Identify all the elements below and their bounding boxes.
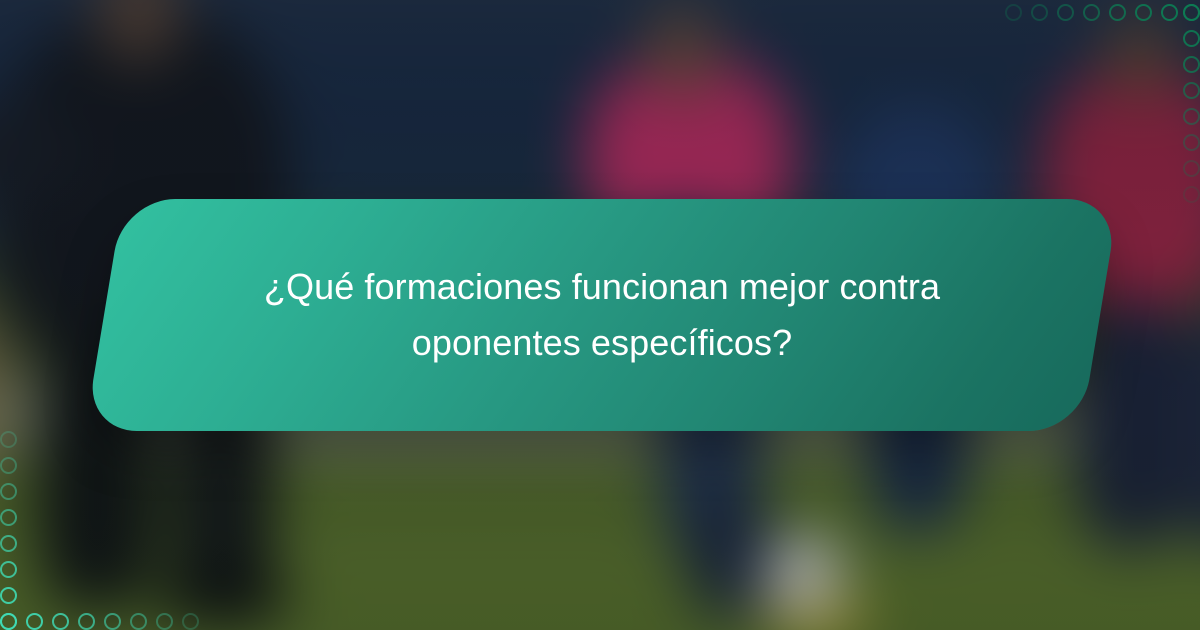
decorative-ring <box>1183 160 1200 177</box>
decorative-ring <box>1183 134 1200 151</box>
decorative-ring <box>1109 4 1126 21</box>
decorative-ring <box>1183 108 1200 125</box>
decorative-ring <box>1005 4 1022 21</box>
question-card: ¿Qué formaciones funcionan mejor contra … <box>104 199 1100 431</box>
decorative-ring <box>0 483 17 500</box>
decorative-ring <box>156 613 173 630</box>
decorative-ring <box>182 613 199 630</box>
decorative-ring <box>1031 4 1048 21</box>
decorative-ring <box>0 431 17 448</box>
question-line-1: ¿Qué formaciones funcionan mejor contra <box>264 259 940 315</box>
decorative-ring <box>0 613 17 630</box>
decorative-ring <box>26 613 43 630</box>
decorative-ring <box>1183 4 1200 21</box>
decorative-ring <box>1183 56 1200 73</box>
question-line-2: oponentes específicos? <box>412 315 792 371</box>
question-card-text: ¿Qué formaciones funcionan mejor contra … <box>104 199 1100 431</box>
decorative-ring <box>0 561 17 578</box>
decorative-ring <box>1183 186 1200 203</box>
decorative-ring <box>0 457 17 474</box>
decorative-ring <box>104 613 121 630</box>
social-card-canvas: ¿Qué formaciones funcionan mejor contra … <box>0 0 1200 630</box>
decorative-ring <box>1183 30 1200 47</box>
decorative-ring <box>1183 82 1200 99</box>
decorative-ring <box>0 535 17 552</box>
decorative-ring <box>130 613 147 630</box>
decorative-ring <box>1135 4 1152 21</box>
decorative-ring <box>52 613 69 630</box>
decorative-ring <box>1083 4 1100 21</box>
decorative-ring <box>0 509 17 526</box>
decorative-ring <box>1057 4 1074 21</box>
decorative-ring <box>0 587 17 604</box>
decorative-ring <box>1161 4 1178 21</box>
decorative-ring <box>78 613 95 630</box>
